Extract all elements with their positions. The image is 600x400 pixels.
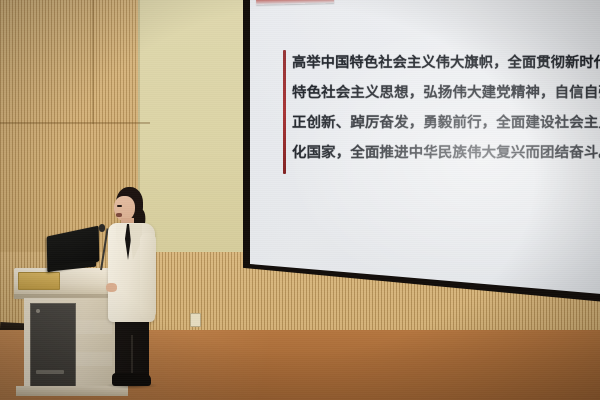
presenter-mouth [116,213,122,217]
slide-text-block: 高举中国特色社会主义伟大旗帜，全面贯彻新时代中国 特色社会主义思想，弘扬伟大建党… [283,48,588,168]
presenter-leg-seam [131,335,133,378]
slide-line-2: 特色社会主义思想，弘扬伟大建党精神，自信自强、守 [292,78,588,108]
wall-seam-vertical [92,0,94,124]
podium-indicator-led [36,309,40,313]
presenter-shoes [112,373,151,386]
light-switch-icon[interactable] [190,313,201,327]
slide-line-3: 正创新、踔厉奋发，勇毅前行，全面建设社会主义现代 [292,108,588,138]
presenter-arm [140,233,156,319]
podium-equipment-panel [30,303,76,389]
podium-plaque-text [19,273,59,276]
slide-line-4: 化国家，全面推进中华民族伟大复兴而团结奋斗。 [292,138,588,168]
slide-line-1: 高举中国特色社会主义伟大旗帜，全面贯彻新时代中国 [292,48,584,78]
wall-seam-horizontal [0,122,150,124]
presenter-figure [100,185,162,400]
presenter-eye [117,205,122,207]
podium-panel-slot [36,370,64,374]
presenter-hand [106,283,117,292]
podium-plaque [18,272,60,290]
photo-scene: 高举中国特色社会主义伟大旗帜，全面贯彻新时代中国 特色社会主义思想，弘扬伟大建党… [0,0,600,400]
